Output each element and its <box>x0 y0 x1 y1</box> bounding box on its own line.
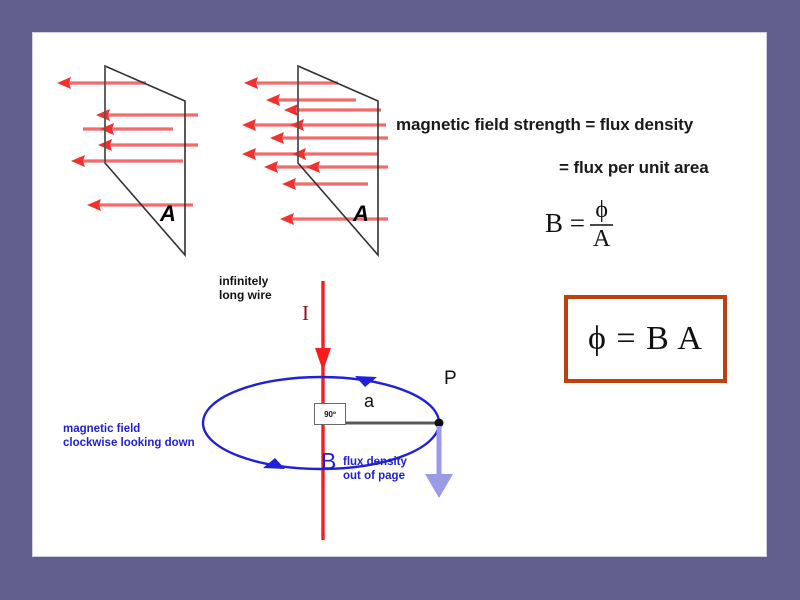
equation-B-lhs: B = <box>545 208 585 239</box>
wire-label-line1: infinitely <box>219 275 272 289</box>
weak-field-arrow-group <box>66 83 198 205</box>
boxed-formula-text: ϕ = B A <box>588 320 703 358</box>
strong-field-diagram: A <box>228 53 438 273</box>
slide-canvas: A <box>33 33 766 556</box>
fraction-denominator-A: A <box>590 228 613 251</box>
field-note-line1: magnetic field <box>63 423 195 437</box>
field-direction-note: magnetic field clockwise looking down <box>63 423 195 451</box>
strong-field-svg <box>228 53 438 273</box>
flux-density-note: flux density out of page <box>343 456 407 484</box>
phi-over-A-fraction: ϕ A <box>590 199 613 251</box>
weak-field-diagram: A <box>43 53 243 273</box>
area-label-right: A <box>353 201 369 227</box>
current-label: I <box>302 301 309 326</box>
equation-B-equals-phi-over-A: B = ϕ A <box>545 198 613 250</box>
right-angle-marker: 90º <box>314 403 346 425</box>
wire-label: infinitely long wire <box>219 275 272 303</box>
radius-label: a <box>364 391 374 412</box>
flux-density-symbol: B <box>321 448 336 475</box>
B-vector-arrowhead <box>425 474 453 498</box>
fraction-numerator-phi: ϕ <box>592 199 611 222</box>
slide-background: A <box>0 0 800 600</box>
strong-field-arrow-group <box>250 83 388 219</box>
field-note-line2: clockwise looking down <box>63 437 195 451</box>
boxed-formula-phi-equals-BA: ϕ = B A <box>564 295 727 383</box>
angle-label: 90º <box>324 410 336 419</box>
wire-label-line2: long wire <box>219 289 272 303</box>
heading-flux-density: magnetic field strength = flux density <box>396 115 693 135</box>
area-label-left: A <box>160 201 176 227</box>
weak-field-svg <box>43 53 243 273</box>
flux-note-line2: out of page <box>343 470 407 484</box>
point-label: P <box>444 368 457 390</box>
heading-flux-per-unit-area: = flux per unit area <box>559 158 709 178</box>
flux-note-line1: flux density <box>343 456 407 470</box>
current-direction-arrowhead <box>315 348 331 371</box>
